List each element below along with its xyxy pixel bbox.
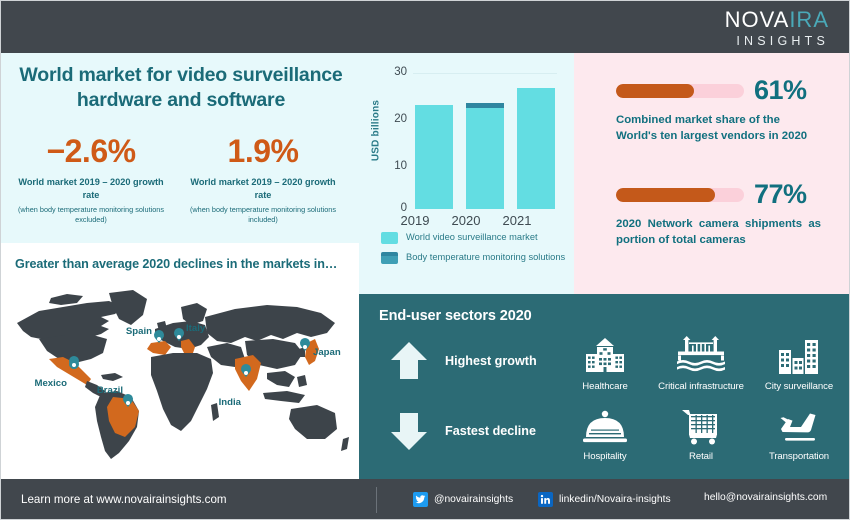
city-buildings-icon bbox=[751, 332, 847, 376]
chart-panel: USD billions 30 20 10 0 2019 2020 2 bbox=[359, 53, 574, 294]
email-address: hello@novairainsights.com bbox=[704, 492, 827, 503]
map-label-india: India bbox=[219, 397, 242, 408]
map-land-indonesia bbox=[263, 391, 305, 403]
footer-bar: Learn more at www.novairainsights.com @n… bbox=[1, 479, 850, 520]
kpi-description: 2020 Network camera shipments as portion… bbox=[616, 217, 821, 248]
legend-label: Body temperature monitoring solutions bbox=[406, 251, 565, 263]
world-map: Mexico Brazil Spain Italy India Japan bbox=[5, 281, 355, 471]
y-tick-20: 20 bbox=[383, 113, 407, 125]
stat-block-included: 1.9% World market 2019 – 2020 growth rat… bbox=[181, 135, 345, 225]
page-title: World market for video surveillance hard… bbox=[15, 63, 347, 113]
map-label-mexico: Mexico bbox=[34, 378, 67, 389]
linkedin-icon bbox=[538, 492, 553, 507]
stat-block-excluded: −2.6% World market 2019 – 2020 growth ra… bbox=[9, 135, 173, 225]
bridge-icon bbox=[653, 332, 749, 376]
sector-healthcare: Healthcare bbox=[557, 332, 653, 392]
x-tick-2021: 2021 bbox=[489, 213, 545, 228]
hospital-icon bbox=[557, 332, 653, 376]
chart-y-axis-label: USD billions bbox=[371, 95, 382, 167]
trend-row-growth: Highest growth bbox=[387, 339, 537, 383]
sector-label: Hospitality bbox=[557, 451, 653, 462]
twitter-handle: @novairainsights bbox=[434, 494, 513, 505]
sector-retail: Retail bbox=[653, 402, 749, 462]
map-label-spain: Spain bbox=[126, 326, 152, 337]
stat-note: (when body temperature monitoring soluti… bbox=[181, 205, 345, 225]
kpi-header: 61% bbox=[616, 77, 834, 104]
legend-swatch-icon bbox=[381, 232, 398, 244]
x-tick-2019: 2019 bbox=[387, 213, 443, 228]
shopping-cart-icon bbox=[653, 402, 749, 446]
map-panel: Greater than average 2020 declines in th… bbox=[1, 243, 359, 479]
kpi-panel: 61% Combined market share of the World's… bbox=[574, 53, 850, 294]
map-label-italy: Italy bbox=[186, 323, 206, 334]
infographic-root: NOVAIRA INSIGHTS World market for video … bbox=[0, 0, 850, 520]
stat-note: (when body temperature monitoring soluti… bbox=[9, 205, 173, 225]
sector-label: Retail bbox=[653, 451, 749, 462]
map-label-brazil: Brazil bbox=[97, 385, 123, 396]
stat-value: 1.9% bbox=[181, 135, 345, 167]
map-title: Greater than average 2020 declines in th… bbox=[15, 257, 337, 271]
arrow-down-icon bbox=[387, 409, 431, 453]
legend-label: World video surveillance market bbox=[406, 231, 538, 243]
arrow-up-icon bbox=[387, 339, 431, 383]
footer-email[interactable]: hello@novairainsights.com bbox=[704, 492, 827, 503]
stat-label: World market 2019 – 2020 growth rate bbox=[181, 176, 345, 202]
map-land-canada-islands bbox=[49, 294, 83, 305]
twitter-icon bbox=[413, 492, 428, 507]
sector-label: Critical infrastructure bbox=[653, 381, 749, 392]
bar-main-2019 bbox=[415, 105, 453, 209]
linkedin-handle: linkedin/Novaira-insights bbox=[559, 494, 671, 505]
bar-cap-2020 bbox=[466, 103, 504, 108]
stat-label: World market 2019 – 2020 growth rate bbox=[9, 176, 173, 202]
kpi-description: Combined market share of the World's ten… bbox=[616, 113, 821, 144]
logo-primary-text: NOVA bbox=[725, 7, 790, 32]
kpi-percent-value: 61% bbox=[754, 77, 807, 104]
kpi-header: 77% bbox=[616, 181, 834, 208]
kpi-progress-track bbox=[616, 188, 744, 202]
brand-logo: NOVAIRA INSIGHTS bbox=[725, 9, 829, 48]
kpi-progress-fill bbox=[616, 188, 715, 202]
kpi-progress-fill bbox=[616, 84, 694, 98]
sector-city-surveillance: City surveillance bbox=[751, 332, 847, 392]
y-tick-10: 10 bbox=[383, 160, 407, 172]
footer-divider bbox=[376, 487, 377, 513]
map-land-greenland bbox=[109, 290, 147, 325]
trend-label-decline: Fastest decline bbox=[445, 424, 536, 438]
sector-label: City surveillance bbox=[751, 381, 847, 392]
footer-twitter[interactable]: @novairainsights bbox=[413, 492, 513, 507]
footer-linkedin[interactable]: linkedin/Novaira-insights bbox=[538, 492, 671, 507]
map-land-australia bbox=[289, 405, 337, 439]
stats-panel: World market for video surveillance hard… bbox=[1, 53, 359, 243]
map-land-africa bbox=[151, 353, 213, 431]
sector-critical-infrastructure: Critical infrastructure bbox=[653, 332, 749, 392]
kpi-progress-track bbox=[616, 84, 744, 98]
map-land-asia bbox=[205, 305, 335, 343]
bar-main-2020 bbox=[466, 103, 504, 209]
chart-legend: World video surveillance market Body tem… bbox=[381, 231, 571, 271]
map-pin-mexico bbox=[69, 356, 79, 369]
map-land-philippines bbox=[297, 375, 307, 387]
footer-learn-more[interactable]: Learn more at www.novairainsights.com bbox=[21, 493, 227, 506]
legend-item-market: World video surveillance market bbox=[381, 231, 571, 244]
stat-value: −2.6% bbox=[9, 135, 173, 167]
sector-label: Transportation bbox=[751, 451, 847, 462]
kpi-item-network-cameras: 77% 2020 Network camera shipments as por… bbox=[616, 181, 834, 248]
airplane-icon bbox=[751, 402, 847, 446]
kpi-item-market-share: 61% Combined market share of the World's… bbox=[616, 77, 834, 144]
map-pin-spain bbox=[154, 330, 164, 343]
chart-plot-area bbox=[413, 67, 559, 209]
x-tick-2020: 2020 bbox=[438, 213, 494, 228]
sector-transportation: Transportation bbox=[751, 402, 847, 462]
bar-chart: USD billions 30 20 10 0 2019 2020 2 bbox=[359, 53, 574, 228]
sectors-panel: End-user sectors 2020 Highest growth Fas… bbox=[359, 294, 850, 479]
y-tick-30: 30 bbox=[383, 66, 407, 78]
trend-label-growth: Highest growth bbox=[445, 354, 537, 368]
sector-hospitality: Hospitality bbox=[557, 402, 653, 462]
header-bar: NOVAIRA INSIGHTS bbox=[1, 1, 850, 53]
map-land-southeast-asia bbox=[267, 371, 295, 387]
map-land-caribbean bbox=[101, 373, 123, 381]
legend-swatch-icon bbox=[381, 252, 398, 264]
logo-accent-text: IRA bbox=[789, 7, 829, 32]
service-bell-icon bbox=[557, 402, 653, 446]
sector-label: Healthcare bbox=[557, 381, 653, 392]
logo-wordmark: NOVAIRA bbox=[725, 9, 829, 31]
map-label-japan: Japan bbox=[313, 347, 341, 358]
logo-subtitle: INSIGHTS bbox=[725, 35, 829, 48]
trend-row-decline: Fastest decline bbox=[387, 409, 536, 453]
kpi-percent-value: 77% bbox=[754, 181, 807, 208]
map-land-new-zealand bbox=[341, 437, 349, 451]
bar-main-2021 bbox=[517, 88, 555, 209]
legend-item-body-temp: Body temperature monitoring solutions bbox=[381, 251, 571, 264]
sectors-title: End-user sectors 2020 bbox=[379, 308, 532, 324]
